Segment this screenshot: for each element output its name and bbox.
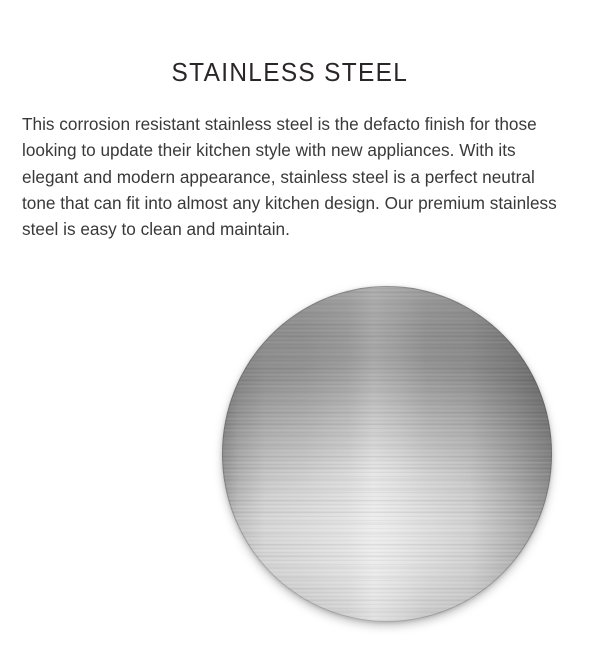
stainless-steel-swatch <box>222 286 552 622</box>
page-title-container: STAINLESS STEEL <box>0 40 580 105</box>
swatch-container <box>222 286 552 622</box>
finish-description: This corrosion resistant stainless steel… <box>22 111 562 242</box>
swatch-outline-ring <box>222 286 552 622</box>
page-title: STAINLESS STEEL <box>172 57 409 87</box>
finish-detail-page: STAINLESS STEEL This corrosion resistant… <box>0 0 600 659</box>
